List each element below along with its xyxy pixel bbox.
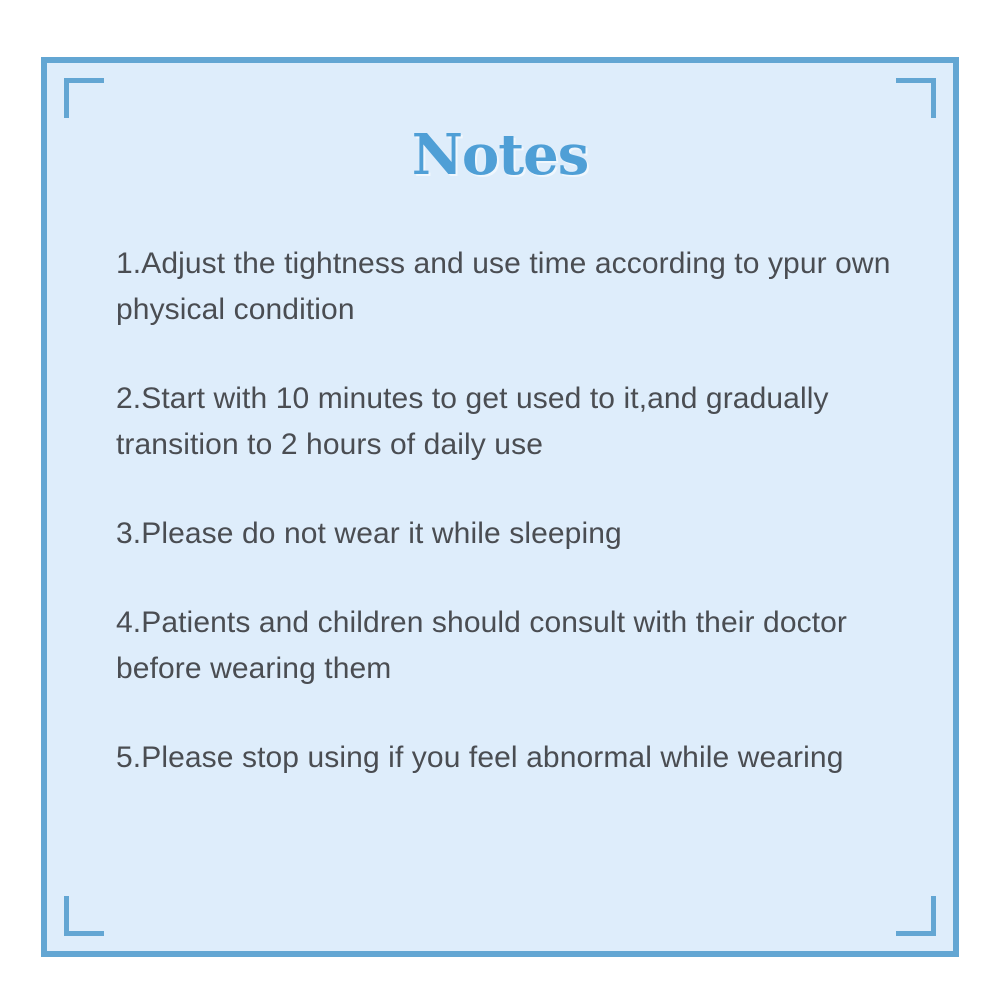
- list-item: 2.Start with 10 minutes to get used to i…: [116, 376, 906, 468]
- corner-bracket-bottom-right-icon: [896, 896, 936, 936]
- list-item: 1.Adjust the tightness and use time acco…: [116, 241, 906, 333]
- notes-list: 1.Adjust the tightness and use time acco…: [116, 241, 906, 781]
- list-item: 3.Please do not wear it while sleeping: [116, 511, 906, 557]
- list-item: 5.Please stop using if you feel abnormal…: [116, 735, 906, 781]
- page-title: Notes: [47, 127, 953, 183]
- list-item: 4.Patients and children should consult w…: [116, 600, 906, 692]
- corner-bracket-top-left-icon: [64, 78, 104, 118]
- notes-card: Notes 1.Adjust the tightness and use tim…: [41, 57, 959, 957]
- corner-bracket-top-right-icon: [896, 78, 936, 118]
- corner-bracket-bottom-left-icon: [64, 896, 104, 936]
